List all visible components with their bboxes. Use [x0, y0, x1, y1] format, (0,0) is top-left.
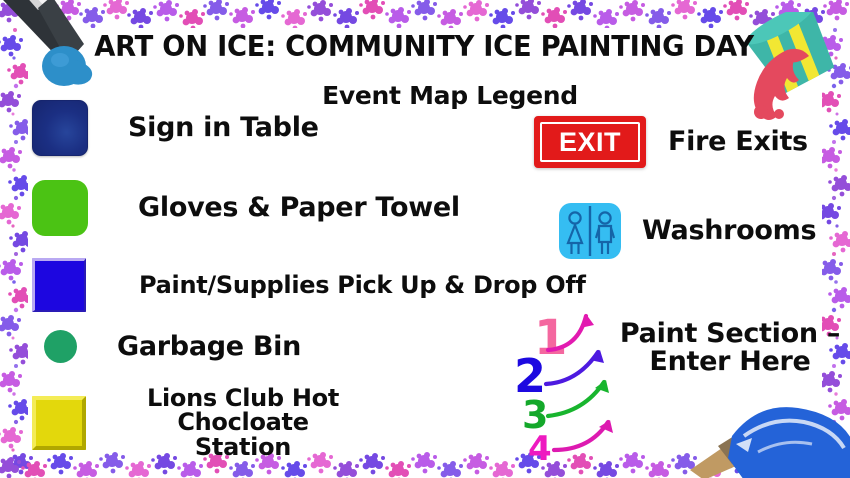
exit-sign-icon: EXIT	[534, 116, 646, 168]
exit-sign-text: EXIT	[559, 129, 621, 156]
legend-item-garbage-bin[interactable]: Garbage Bin	[44, 330, 301, 363]
legend-item-label: Washrooms	[642, 217, 816, 245]
legend-item-paint-supplies[interactable]: Paint/Supplies Pick Up & Drop Off	[32, 258, 586, 312]
yellow-square-swatch	[32, 396, 86, 450]
green-circle-swatch	[44, 330, 77, 363]
legend-item-fire-exits[interactable]: EXIT Fire Exits	[534, 116, 808, 168]
green-rounded-square-swatch	[32, 180, 88, 236]
legend-item-label: Garbage Bin	[117, 333, 301, 361]
navy-rounded-square-swatch	[32, 100, 88, 156]
legend-item-washrooms[interactable]: Washrooms	[556, 202, 816, 260]
washroom-icon	[556, 202, 624, 260]
paint-section-label-line2: Enter Here	[610, 348, 850, 376]
poster-canvas: ART ON ICE: COMMUNITY ICE PAINTING DAY E…	[0, 0, 850, 478]
arrow-4	[554, 422, 608, 450]
legend-item-label: Sign in Table	[128, 114, 319, 142]
page-subtitle: Event Map Legend	[300, 78, 600, 112]
entrance-number-4: 4	[528, 429, 552, 464]
paint-section-label-line1: Paint Section –	[610, 320, 850, 348]
legend-item-label: Fire Exits	[668, 128, 808, 156]
legend-item-gloves-paper-towel[interactable]: Gloves & Paper Towel	[32, 180, 460, 236]
legend-item-sign-in-table[interactable]: Sign in Table	[32, 100, 319, 156]
paint-section-label: Paint Section – Enter Here	[610, 320, 850, 376]
arrow-3	[548, 382, 604, 416]
legend-item-label: Paint/Supplies Pick Up & Drop Off	[139, 273, 586, 297]
blue-square-swatch	[32, 258, 86, 312]
legend-item-hot-chocolate-station[interactable]: Lions Club Hot Chocloate Station	[32, 386, 358, 459]
legend-item-label: Lions Club Hot Chocloate Station	[128, 386, 358, 459]
page-title: ART ON ICE: COMMUNITY ICE PAINTING DAY	[101, 26, 746, 68]
paint-section-group: 1 2 3 4 Paint Section – Enter Here	[512, 306, 850, 464]
legend-item-label: Gloves & Paper Towel	[138, 194, 460, 222]
